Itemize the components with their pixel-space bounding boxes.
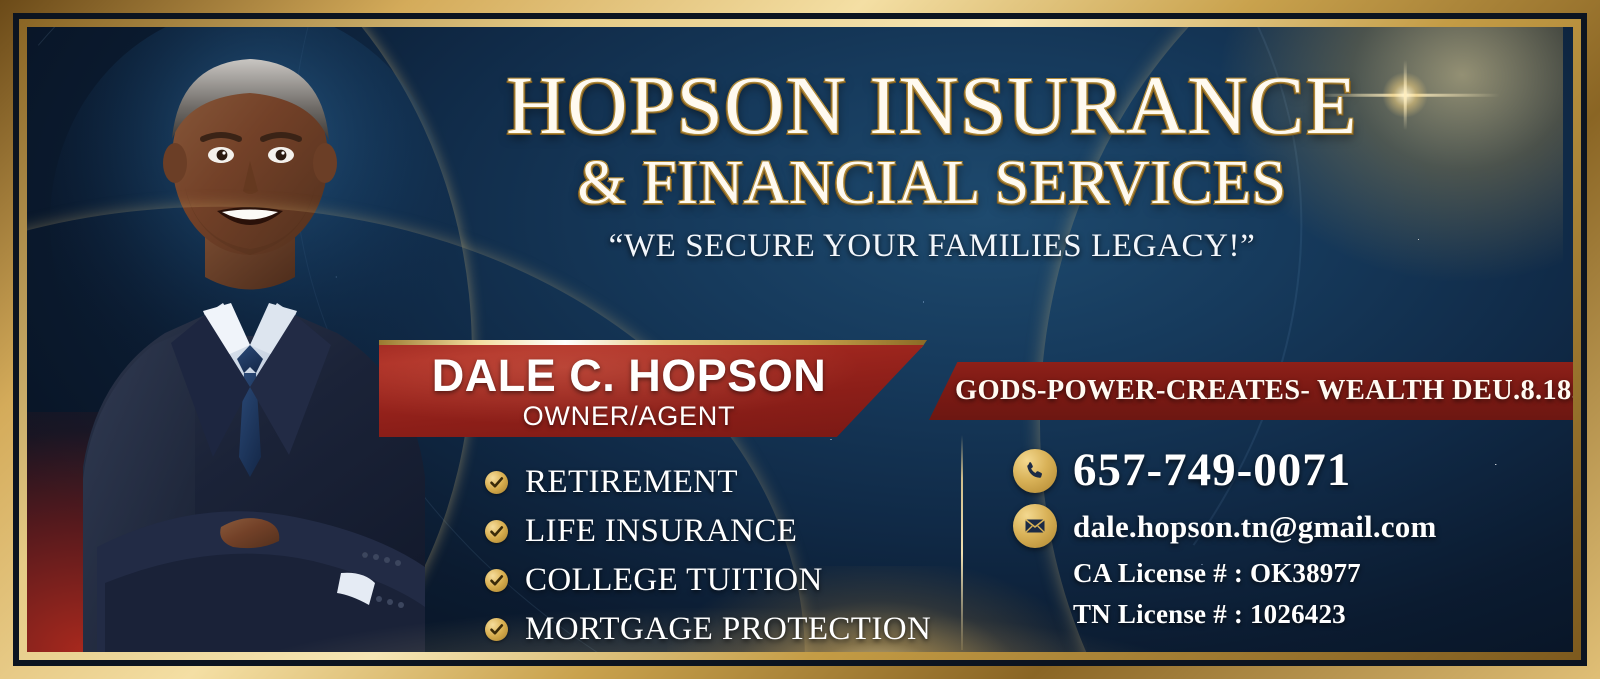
check-circle-icon xyxy=(485,471,508,494)
service-label: LIFE INSURANCE xyxy=(525,513,797,550)
services-list: RETIREMENT LIFE INSURANCE COLLEGE TUITIO… xyxy=(485,464,955,652)
company-tagline: “WE SECURE YOUR FAMILIES LEGACY!” xyxy=(427,228,1437,265)
check-circle-icon xyxy=(485,618,508,641)
agent-name-block: DALE C. HOPSON OWNER/AGENT xyxy=(379,345,879,437)
envelope-icon xyxy=(1013,504,1057,548)
agent-role: OWNER/AGENT xyxy=(523,403,736,430)
agent-name: DALE C. HOPSON xyxy=(432,353,827,398)
list-item: COLLEGE TUITION xyxy=(485,562,955,599)
hopson-insurance-banner: HOPSON INSURANCE & FINANCIAL SERVICES “W… xyxy=(0,0,1600,679)
banner-stage: HOPSON INSURANCE & FINANCIAL SERVICES “W… xyxy=(27,27,1573,652)
company-headline: HOPSON INSURANCE & FINANCIAL SERVICES “W… xyxy=(427,65,1437,265)
license-tn: TN License # : 1026423 xyxy=(1073,599,1483,630)
service-label: COLLEGE TUITION xyxy=(525,562,823,599)
email-row[interactable]: dale.hopson.tn@gmail.com xyxy=(1013,504,1483,548)
vertical-divider xyxy=(961,435,963,650)
license-ca: CA License # : OK38977 xyxy=(1073,558,1483,589)
list-item: RETIREMENT xyxy=(485,464,955,501)
contact-block: 657-749-0071 dale.hopson.tn@gmail.com CA… xyxy=(1013,447,1483,630)
phone-number: 657-749-0071 xyxy=(1073,447,1351,494)
phone-icon xyxy=(1013,449,1057,493)
company-name-line2: & FINANCIAL SERVICES xyxy=(427,152,1437,214)
list-item: MORTGAGE PROTECTION xyxy=(485,611,955,648)
check-circle-icon xyxy=(485,520,508,543)
list-item: LIFE INSURANCE xyxy=(485,513,955,550)
scripture-text: GODS-POWER-CREATES- WEALTH DEU.8.18. xyxy=(929,362,1573,420)
company-name-line1: HOPSON INSURANCE xyxy=(427,65,1437,146)
email-address: dale.hopson.tn@gmail.com xyxy=(1073,511,1436,542)
phone-row[interactable]: 657-749-0071 xyxy=(1013,447,1483,494)
service-label: MORTGAGE PROTECTION xyxy=(525,611,931,648)
service-label: RETIREMENT xyxy=(525,464,738,501)
check-circle-icon xyxy=(485,569,508,592)
license-block: CA License # : OK38977 TN License # : 10… xyxy=(1073,558,1483,630)
agent-portrait xyxy=(45,27,465,652)
